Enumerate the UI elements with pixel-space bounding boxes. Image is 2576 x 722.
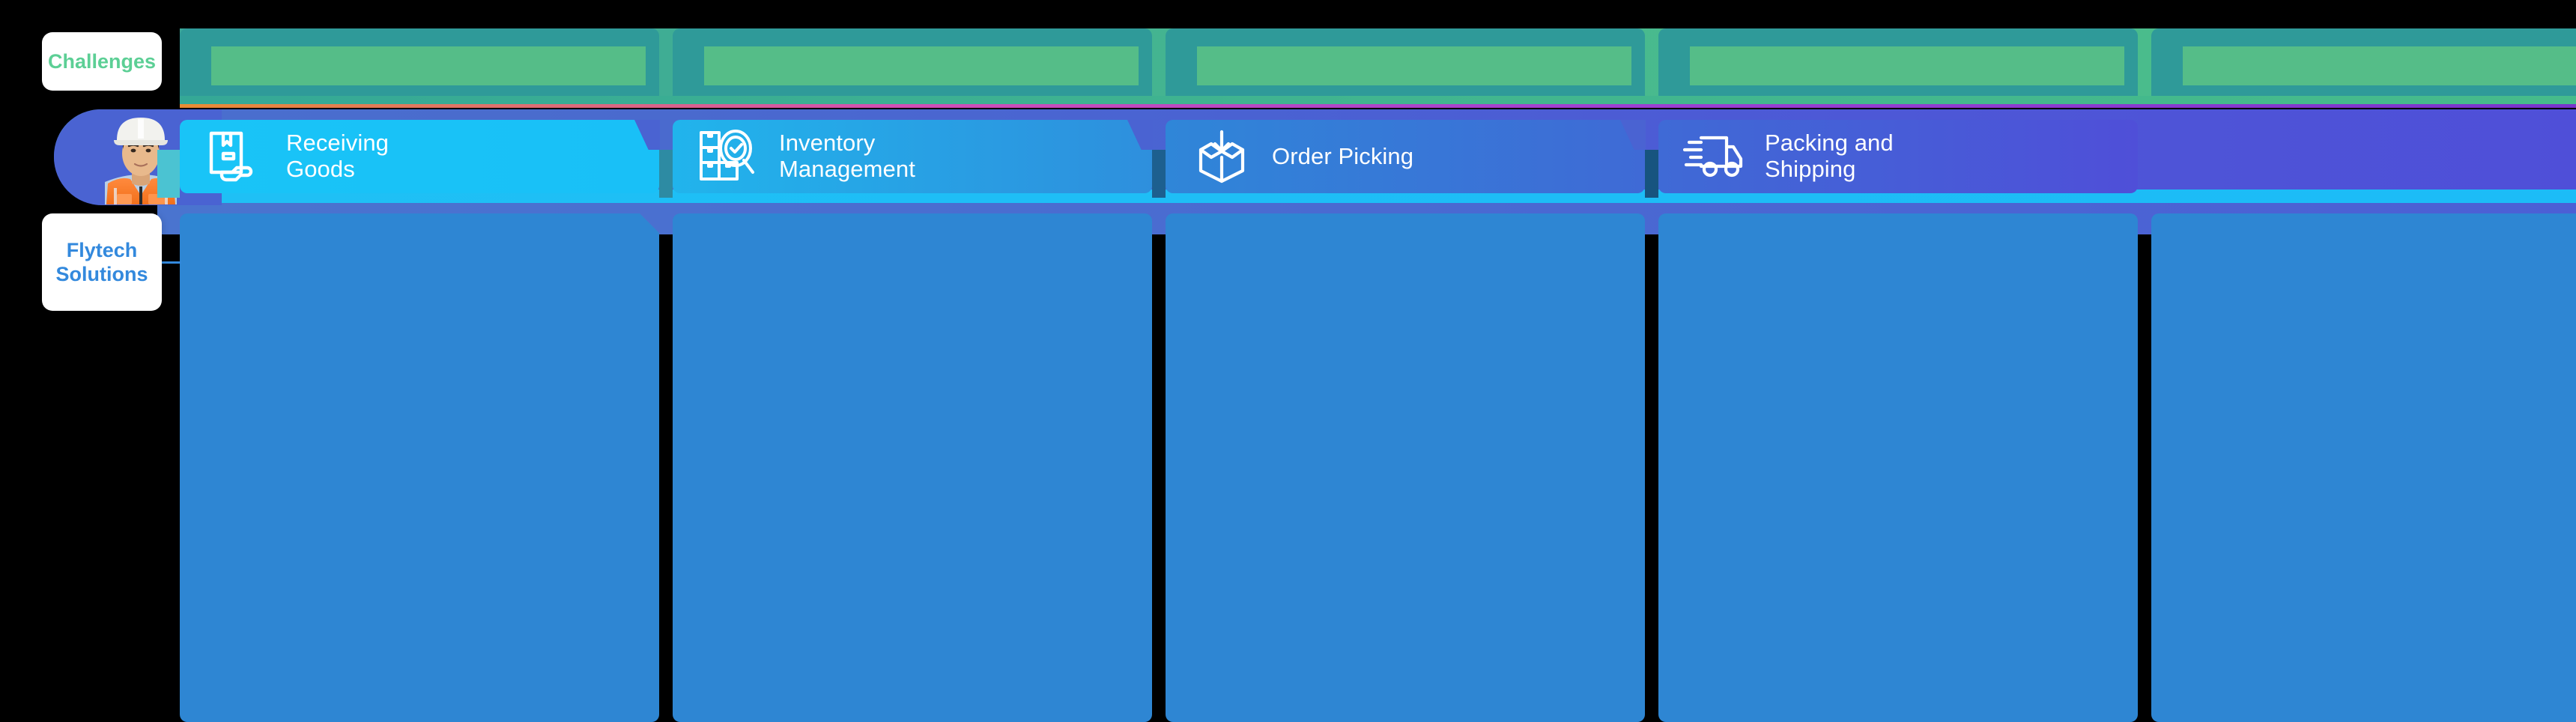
process-step-notch [1127,120,1153,150]
process-step[interactable]: Receiving Goods [180,120,659,193]
solution-card[interactable] [673,213,1152,722]
open-box-arrow-down-icon [1189,130,1254,183]
challenge-card-placeholder [1690,46,2124,85]
solution-card[interactable] [1166,213,1645,722]
challenge-card-placeholder [2183,46,2576,85]
process-step[interactable]: Order Picking [1166,120,1645,193]
process-step-connector [1152,120,1166,193]
challenges-label-card[interactable]: Challenges [42,32,162,91]
package-in-hand-icon [204,130,268,183]
flytech-label-card[interactable]: Flytech Solutions [42,213,162,311]
challenge-card-placeholder [211,46,646,85]
delivery-truck-speed-icon [1682,130,1747,183]
process-step-notch [1620,120,1646,150]
challenges-label-text: Challenges [48,50,156,73]
process-step-notch [634,120,660,150]
process-step-label: Order Picking [1272,144,1413,170]
challenge-card-placeholder [1197,46,1631,85]
process-step[interactable]: Packing and Shipping [1658,120,2138,193]
process-step-connector [659,120,673,193]
solution-card[interactable] [2151,213,2576,722]
process-step-label: Packing and Shipping [1765,130,1894,182]
process-step-tab [1645,150,1658,198]
process-step[interactable]: Inventory Management [673,120,1152,193]
solution-card[interactable] [180,213,659,722]
infographic-canvas: Receiving Goods Inventory Management Ord… [0,0,2576,722]
process-step-connector [1645,120,1658,193]
gradient-accent-line [180,104,2576,108]
boxes-magnifier-check-icon [697,130,761,183]
solutions-card-track [180,213,2576,722]
flytech-connector-line [162,261,181,264]
process-step-tab [157,150,180,198]
flytech-label-text: Flytech Solutions [56,238,148,287]
challenge-card-placeholder [704,46,1139,85]
solution-card[interactable] [1658,213,2138,722]
process-step-tab [1152,150,1166,198]
process-step-label: Receiving Goods [286,130,389,182]
process-step-list: Receiving Goods Inventory Management Ord… [180,120,2576,193]
process-step-label: Inventory Management [779,130,915,182]
process-step-tab [659,150,673,198]
